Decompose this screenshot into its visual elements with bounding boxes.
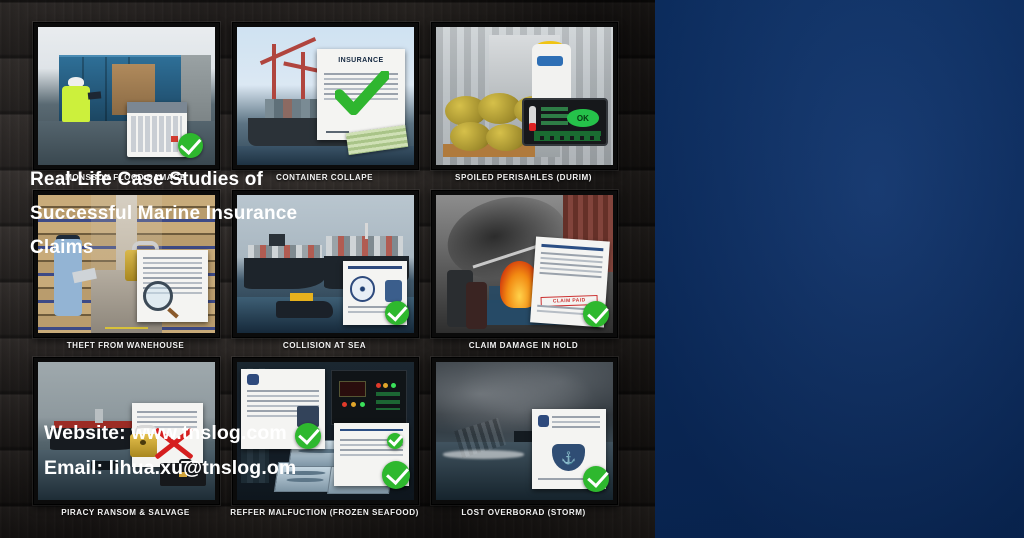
page-title: Real-Life Case Studies of Successful Mar… [30, 163, 348, 265]
compass-seal-icon [350, 276, 376, 302]
contact-block: Website: www.tnslog.com Email: lihua.xu@… [44, 416, 364, 486]
case-photo-frame-1 [33, 22, 220, 170]
magnifier-icon [143, 281, 173, 311]
panel-display [339, 381, 366, 398]
info-panel [655, 0, 1024, 538]
case-caption-5: COLLISION AT SEA [230, 340, 419, 350]
case-photo-frame-2: INSURANCE [232, 22, 419, 170]
face-mask-icon [537, 56, 564, 66]
case-caption-9: LOST OVERBORAD (STORM) [429, 507, 618, 517]
scene-flood-damage [38, 27, 215, 165]
case-caption-4: THEFT FROM WANEHOUSE [31, 340, 220, 350]
durian-icon [450, 122, 491, 151]
tugboat-icon [276, 301, 333, 318]
green-check-icon [387, 433, 403, 449]
scene-fire-damage-in-hold: CLAIM PAID [436, 195, 613, 333]
green-check-icon [385, 301, 409, 325]
green-check-icon [178, 133, 203, 158]
firefighter-figure [466, 282, 487, 329]
case-caption-7: PIRACY RANSOM & SALVAGE [31, 507, 220, 517]
green-check-icon [335, 71, 389, 115]
official-seal-icon [538, 415, 549, 427]
case-caption-8: REFFER MALFUCTION (FROZEN SEAFOOD) [230, 507, 419, 517]
scene-container-collapse: INSURANCE [237, 27, 414, 165]
case-caption-6: CLAIM DAMAGE IN HOLD [429, 340, 618, 350]
case-photo-frame-9: ⚓ [431, 357, 618, 505]
portrait-icon [385, 280, 402, 302]
temperature-monitor-tablet: OK [522, 98, 607, 146]
case-caption-3: SPOILED PERISAHLES (DURIM) [429, 172, 618, 182]
worker-figure [61, 77, 91, 138]
wave-spray [443, 450, 524, 458]
hi-vis-vest-icon [62, 86, 90, 121]
case-photo-frame-6: CLAIM PAID [431, 190, 618, 338]
green-check-icon [583, 301, 609, 327]
website-line[interactable]: Website: www.tnslog.com [44, 416, 364, 451]
durian-icon [486, 124, 527, 152]
thermometer-icon [529, 106, 536, 132]
case-photo-frame-3: OK [431, 22, 618, 170]
crane-boom-icon [260, 37, 317, 65]
ship-mast-icon [365, 223, 368, 240]
status-ok-badge: OK [567, 109, 600, 127]
floor-marking [105, 327, 147, 329]
scene-lost-overboard-storm: ⚓ [436, 362, 613, 500]
email-line[interactable]: Email: lihua.xu@tnslog.om [44, 451, 364, 486]
scene-spoiled-perishables: OK [436, 27, 613, 165]
anchor-shield-icon: ⚓ [552, 444, 585, 471]
official-seal-icon [247, 374, 259, 385]
slide-canvas: MONSSON FLOOD DAMAGE INSURANCE [0, 0, 1024, 538]
insurance-doc-title: INSURANCE [326, 57, 397, 64]
